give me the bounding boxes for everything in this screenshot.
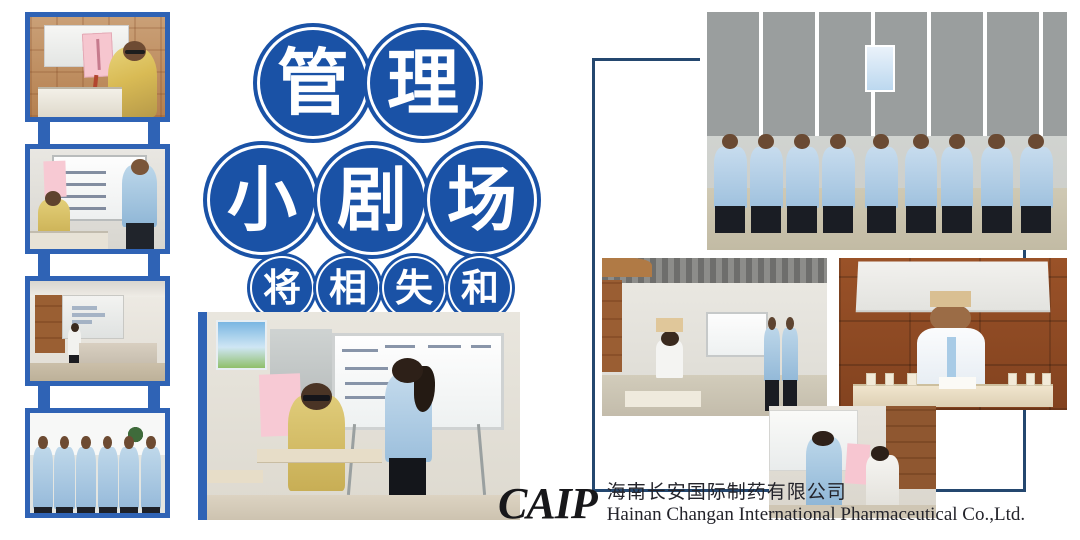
photo-man-with-pink-sign	[25, 12, 170, 122]
company-name-cn: 海南长安国际制药有限公司	[607, 482, 1025, 504]
subtitle-char-bubble: 失	[384, 258, 444, 318]
company-logo: CAIP 海南长安国际制药有限公司 Hainan Changan Interna…	[498, 474, 1058, 534]
poster-title: 管 理 小 剧 场 将 相 失 和	[198, 8, 578, 308]
title-char-bubble: 管	[260, 30, 366, 136]
company-name-en: Hainan Changan International Pharmaceuti…	[607, 504, 1025, 526]
title-char-bubble: 剧	[320, 148, 424, 252]
subtitle-char-bubble: 将	[252, 258, 312, 318]
photo-roleplay-whiteboard	[198, 312, 520, 520]
subtitle-char-bubble: 相	[318, 258, 378, 318]
poster-canvas: 管 理 小 剧 场 将 相 失 和	[0, 0, 1080, 540]
subtitle-char-bubble: 和	[450, 258, 510, 318]
photo-audience-applause	[707, 12, 1067, 250]
logo-mark-caip: CAIP	[498, 482, 597, 526]
title-char-bubble: 场	[430, 148, 534, 252]
photo-seminar-room	[602, 258, 827, 416]
photo-whiteboard-discussion	[25, 144, 170, 254]
title-char-bubble: 理	[370, 30, 476, 136]
photo-man-paper-crown	[839, 258, 1067, 410]
photo-presenter-at-screen	[25, 276, 170, 386]
title-char-bubble: 小	[210, 148, 314, 252]
photo-seated-audience-row	[25, 408, 170, 518]
